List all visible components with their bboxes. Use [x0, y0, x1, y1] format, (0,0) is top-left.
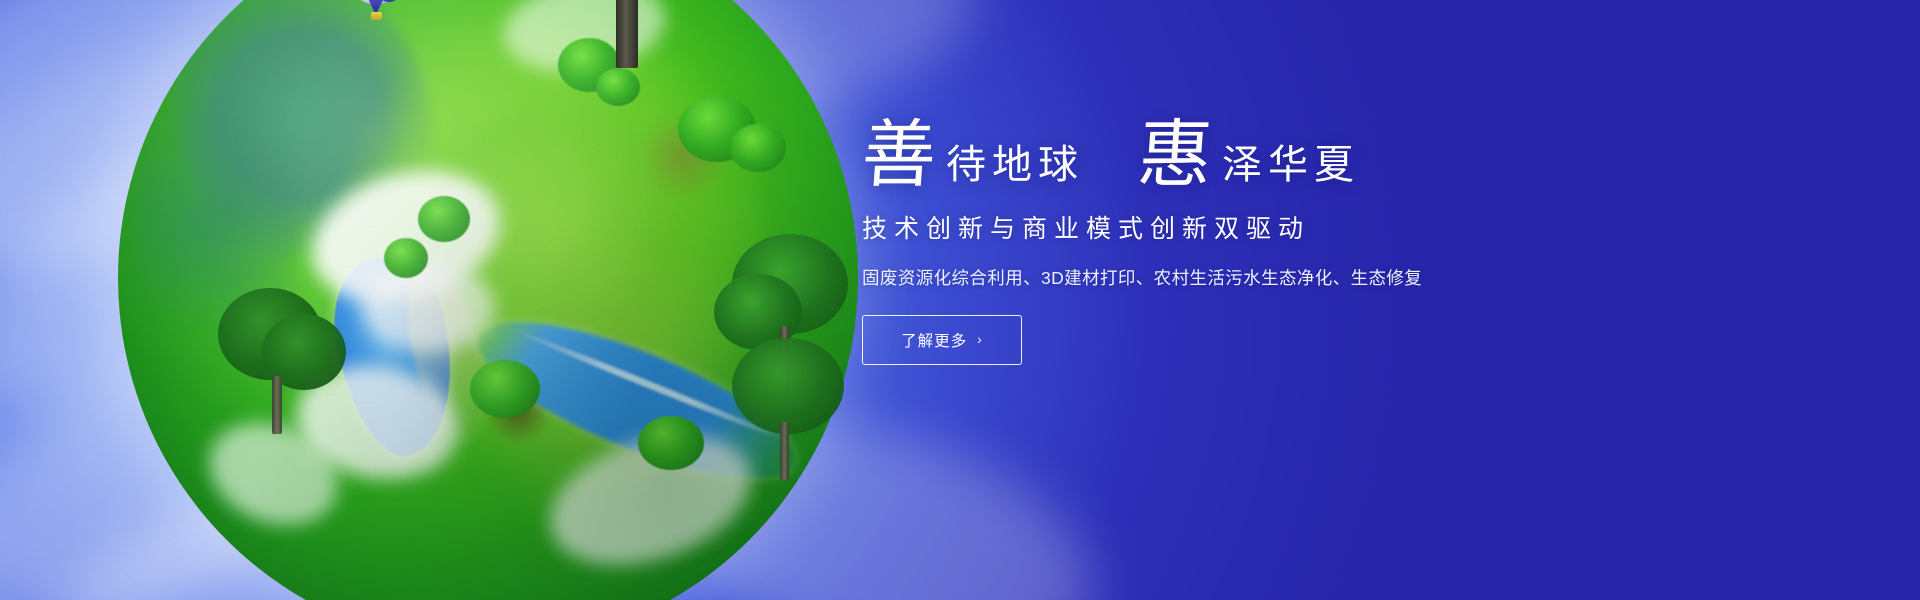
headline-char-shan: 善 [860, 120, 943, 191]
silhouette-tree-icon [218, 288, 348, 438]
tree-trunk [780, 422, 789, 480]
tree-trunk [616, 0, 638, 68]
banner-copy: 善 待地球 惠 泽华夏 技术创新与商业模式创新双驱动 固废资源化综合利用、3D建… [862, 120, 1622, 365]
tree-trunk [272, 376, 282, 434]
tree-bush [596, 68, 640, 106]
page-title: 善 待地球 惠 泽华夏 [862, 120, 1622, 191]
banner-description: 固废资源化综合利用、3D建材打印、农村生活污水生态净化、生态修复 [862, 265, 1622, 290]
surface-cloud [362, 263, 495, 352]
hero-tree-icon [488, 0, 768, 68]
hero-banner: 善 待地球 惠 泽华夏 技术创新与商业模式创新双驱动 固废资源化综合利用、3D建… [0, 0, 1920, 600]
green-planet-image [118, 0, 858, 600]
hot-air-balloon-icon [350, 0, 406, 26]
banner-subtitle: 技术创新与商业模式创新双驱动 [862, 209, 1622, 245]
learn-more-button[interactable]: 了解更多 › [862, 315, 1022, 365]
headline-daidiqiu: 待地球 [940, 145, 1084, 191]
silhouette-tree-icon [722, 338, 862, 488]
tree-bush [730, 124, 786, 172]
tree-bush [470, 360, 540, 418]
tree-bush [638, 416, 704, 470]
headline-zehuaxia: 泽华夏 [1216, 145, 1360, 191]
balloon-tip [368, 0, 384, 12]
learn-more-label: 了解更多 [901, 329, 967, 351]
balloon-basket [371, 12, 382, 20]
tree-bush [418, 196, 470, 242]
chevron-right-icon: › [977, 331, 983, 347]
tree-crown [732, 338, 844, 434]
bird-flock-icon [710, 0, 850, 2]
headline-char-hui: 惠 [1136, 120, 1219, 191]
tree-bush [384, 238, 428, 278]
